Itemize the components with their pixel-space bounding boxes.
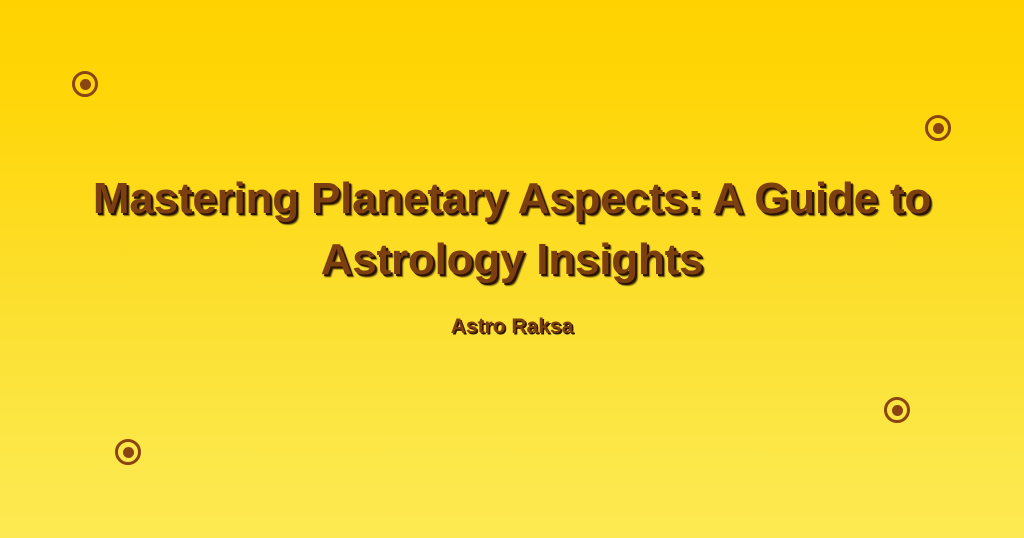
ring-icon-center-dot (80, 79, 91, 90)
ring-icon-center-dot (933, 123, 944, 134)
title-slide: Mastering Planetary Aspects: A Guide to … (0, 0, 1024, 538)
ring-icon-center-dot (123, 447, 134, 458)
page-title: Mastering Planetary Aspects: A Guide to … (40, 168, 984, 290)
ring-icon-top-right (925, 115, 951, 141)
slide-text-block: Mastering Planetary Aspects: A Guide to … (0, 168, 1024, 340)
ring-icon-center-dot (892, 405, 903, 416)
ring-icon-bottom-left (115, 439, 141, 465)
slide-subtitle: Astro Raksa (40, 314, 984, 340)
ring-icon-top-left (72, 71, 98, 97)
ring-icon-bottom-right (884, 397, 910, 423)
